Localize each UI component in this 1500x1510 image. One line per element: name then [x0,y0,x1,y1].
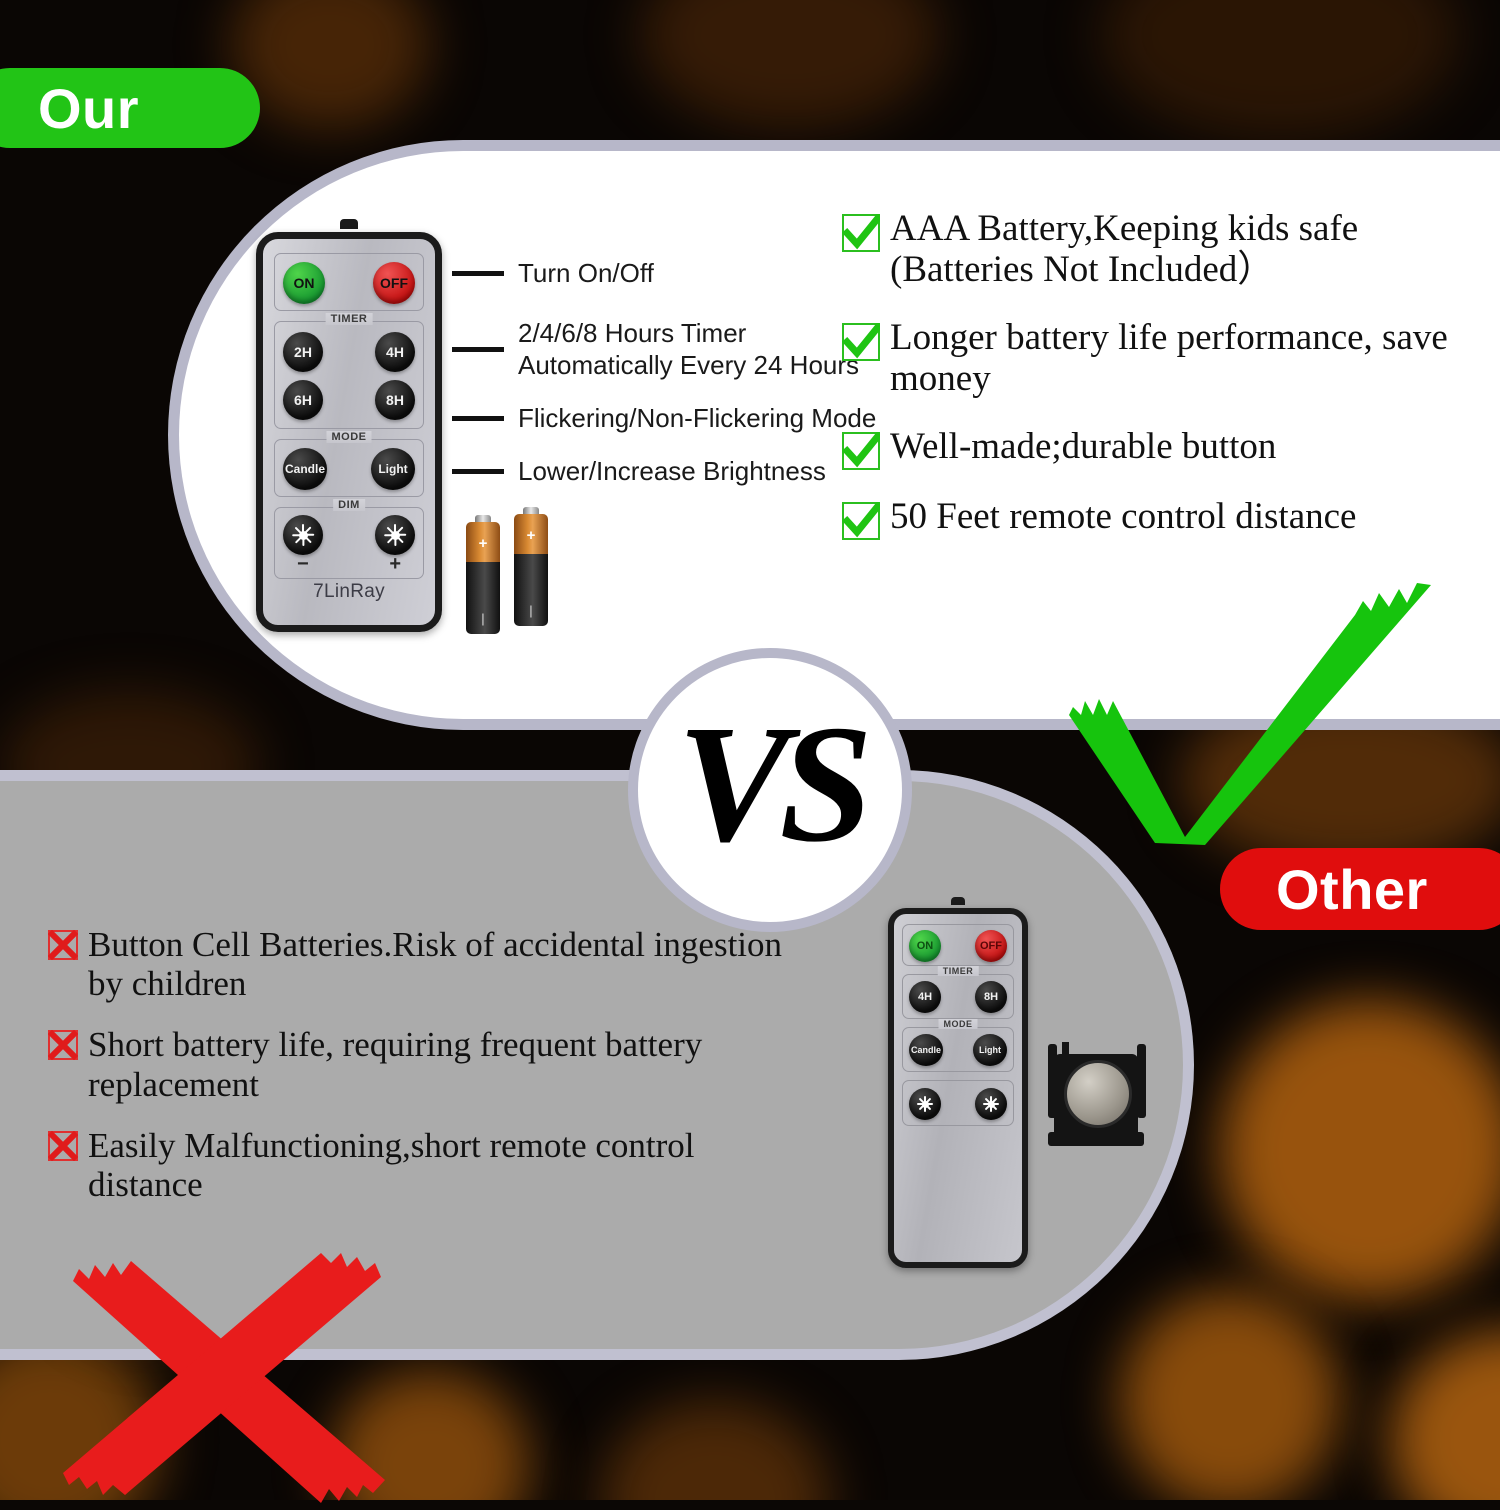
button-4h[interactable]: 4H [909,981,941,1013]
list-item-label: Longer battery life performance, save mo… [890,317,1492,400]
list-item: Easily Malfunctioning,short remote contr… [48,1126,788,1204]
button-2h[interactable]: 2H [283,332,323,372]
bokeh-circle [1220,1000,1500,1300]
dim-group-label: DIM [333,499,365,511]
mode-group-label: MODE [939,1019,978,1029]
callout-text: Turn On/Off [518,258,654,290]
bokeh-circle [1120,1290,1340,1500]
callout-line [452,271,504,276]
timer-group-label: TIMER [326,313,373,325]
button-light-label: Light [979,1045,1001,1055]
list-item-label: 50 Feet remote control distance [890,496,1356,537]
callout-power: Turn On/Off [452,258,654,290]
list-item: Longer battery life performance, save mo… [842,317,1492,400]
remote-brand-label: 7LinRay [263,581,435,603]
battery-plus-icon: + [514,527,548,544]
mode-group: MODE Candle Light [902,1027,1014,1072]
battery-bottom: | [514,554,548,626]
button-4h-label: 4H [918,991,932,1003]
brightness-icon [384,524,406,546]
check-icon [842,214,880,252]
timer-group-label: TIMER [938,966,979,976]
list-item: Well-made;durable button [842,426,1492,470]
button-6h-label: 6H [294,392,312,408]
callout-timer: 2/4/6/8 Hours Timer Automatically Every … [452,318,859,381]
timer-group: TIMER 2H 4H 6H 8H [274,321,424,429]
battery-top: + [514,514,548,554]
badge-our: Our [0,68,260,148]
big-x-icon [55,1245,395,1510]
callout-line [452,416,504,421]
button-dim-down[interactable] [283,515,323,555]
dim-group: DIM [274,507,424,579]
vs-label: VS [677,700,863,868]
our-remote-control: ON OFF TIMER 2H 4H 6H 8H MODE [256,232,442,632]
remote-body: ON OFF TIMER 2H 4H 6H 8H MODE [256,232,442,632]
ir-emitter-icon [951,897,965,905]
mode-group-label: MODE [327,431,372,443]
ir-emitter-icon [340,219,358,229]
badge-other: Other [1220,848,1500,930]
button-8h-label: 8H [984,991,998,1003]
button-6h[interactable]: 6H [283,380,323,420]
dim-group [902,1080,1014,1126]
button-off-label: OFF [980,940,1002,952]
coin-cell [1064,1060,1132,1128]
button-off[interactable]: OFF [975,930,1007,962]
badge-other-label: Other [1220,857,1428,922]
bokeh-circle [640,0,940,130]
vs-divider: VS [628,648,912,932]
power-group: ON OFF [274,253,424,311]
bokeh-circle [1100,0,1460,140]
bokeh-circle [230,0,430,130]
button-8h[interactable]: 8H [375,380,415,420]
dim-minus-label: − [297,553,309,576]
button-light[interactable]: Light [371,448,415,490]
aaa-battery: + | [466,522,500,634]
brightness-icon [917,1096,934,1113]
battery-minus-icon: | [466,611,500,626]
cons-list: Button Cell Batteries.Risk of accidental… [48,925,788,1226]
bokeh-circle [1390,1330,1500,1500]
list-item-label: Button Cell Batteries.Risk of accidental… [88,925,788,1003]
list-item-label: AAA Battery,Keeping kids safe (Batteries… [890,208,1492,291]
callout-text: Flickering/Non-Flickering Mode [518,403,876,435]
dim-plus-label: + [389,553,401,576]
button-light-label: Light [378,462,407,476]
big-check-icon [1055,575,1475,845]
brightness-icon [983,1096,1000,1113]
button-off[interactable]: OFF [373,262,415,304]
battery-minus-icon: | [514,603,548,618]
bokeh-circle [600,1400,830,1500]
battery-top: + [466,522,500,562]
button-4h-label: 4H [386,344,404,360]
check-icon [842,323,880,361]
check-icon [842,502,880,540]
x-icon [48,930,78,960]
list-item: 50 Feet remote control distance [842,496,1492,540]
x-icon [48,1131,78,1161]
callout-text: 2/4/6/8 Hours Timer Automatically Every … [518,318,859,381]
button-candle-label: Candle [285,462,325,476]
list-item-label: Short battery life, requiring frequent b… [88,1025,788,1103]
coin-cell-battery [1048,1040,1144,1152]
button-8h-label: 8H [386,392,404,408]
button-light[interactable]: Light [973,1034,1007,1066]
callout-mode: Flickering/Non-Flickering Mode [452,403,876,435]
callout-line [452,347,504,352]
button-on-label: ON [917,940,934,952]
button-on-label: ON [294,275,315,291]
battery-plus-icon: + [466,535,500,552]
button-off-label: OFF [380,275,408,291]
brightness-icon [292,524,314,546]
aaa-battery: + | [514,514,548,626]
button-4h[interactable]: 4H [375,332,415,372]
callout-text: Lower/Increase Brightness [518,456,826,488]
remote-body: ON OFF TIMER 4H 8H MODE Candle Light [888,908,1028,1268]
button-dim-down[interactable] [909,1088,941,1120]
list-item: Short battery life, requiring frequent b… [48,1025,788,1103]
button-candle[interactable]: Candle [909,1034,943,1066]
button-dim-up[interactable] [375,515,415,555]
badge-our-label: Our [10,76,139,141]
callout-dim: Lower/Increase Brightness [452,456,826,488]
button-dim-up[interactable] [975,1088,1007,1120]
button-candle[interactable]: Candle [283,448,327,490]
button-candle-label: Candle [911,1045,941,1055]
mode-group: MODE Candle Light [274,439,424,497]
other-remote-control: ON OFF TIMER 4H 8H MODE Candle Light [888,908,1028,1268]
callout-line [452,469,504,474]
button-8h[interactable]: 8H [975,981,1007,1013]
button-on[interactable]: ON [283,262,325,304]
battery-bottom: | [466,562,500,634]
list-item-label: Well-made;durable button [890,426,1276,467]
button-2h-label: 2H [294,344,312,360]
power-group: ON OFF [902,924,1014,966]
holder-arm [1137,1044,1146,1118]
timer-group: TIMER 4H 8H [902,974,1014,1019]
pros-list: AAA Battery,Keeping kids safe (Batteries… [842,208,1492,566]
list-item-label: Easily Malfunctioning,short remote contr… [88,1126,788,1204]
list-item: AAA Battery,Keeping kids safe (Batteries… [842,208,1492,291]
check-icon [842,432,880,470]
button-on[interactable]: ON [909,930,941,962]
holder-base [1048,1132,1144,1146]
list-item: Button Cell Batteries.Risk of accidental… [48,925,788,1003]
x-icon [48,1030,78,1060]
